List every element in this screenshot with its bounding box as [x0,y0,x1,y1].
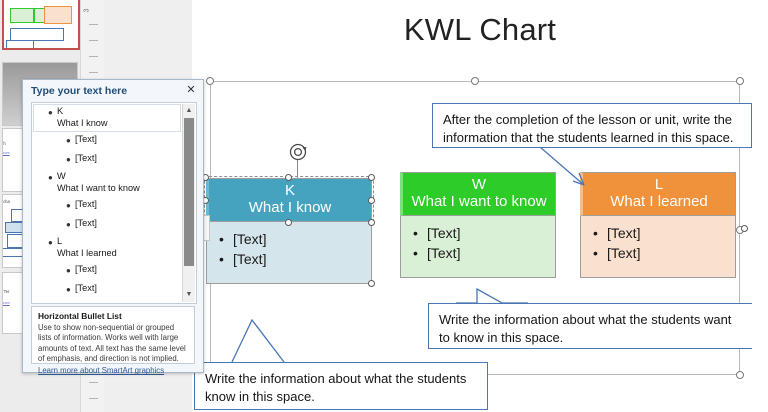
scrollbar-thumb[interactable] [184,118,194,266]
slide-canvas[interactable]: KWL Chart K What I know [Text] [Text] [192,0,768,412]
text-pane-entry-caption[interactable]: What I learned [57,248,117,258]
text-pane-entry-caption[interactable]: What I know [57,118,108,128]
layout-description-panel: Horizontal Bullet List Use to show non-s… [31,306,195,364]
bullet-icon: ● [66,155,71,164]
canvas-right-margin [752,0,768,412]
callout-want[interactable]: Write the information about what the stu… [428,303,754,349]
bullet-icon: ● [48,238,53,247]
text-pane-scrollbar[interactable]: ▲ ▼ [182,104,195,302]
scroll-down-icon[interactable]: ▼ [184,289,194,301]
thumbnail-label: WL Ch [2,141,6,146]
callout-leader-lines [192,0,768,412]
text-pane-entry-letter[interactable]: W [57,171,66,181]
text-pane-entry-letter[interactable]: K [57,106,63,116]
text-pane-entry-caption[interactable]: What I want to know [57,183,140,193]
smartart-help-link[interactable]: Learn more about SmartArt graphics [38,366,188,375]
callout-learned[interactable]: After the completion of the lesson or un… [432,103,752,148]
thumbnail-link[interactable]: pptx.com [2,151,10,155]
bullet-icon: ● [66,266,71,275]
bullet-icon: ● [66,220,71,229]
close-icon[interactable]: ✕ [184,83,198,97]
text-pane-title: Type your text here [31,85,127,97]
layout-description: Use to show non-sequential or grouped li… [38,323,188,364]
thumbnail-label: KWL cha [2,199,10,204]
text-pane-list[interactable]: ● K What I know ● [Text] ● [Text] ● W Wh… [31,102,197,304]
bullet-icon: ● [66,201,71,210]
text-pane-entry[interactable]: [Text] [75,283,97,293]
bullet-icon: ● [66,136,71,145]
text-pane-entry[interactable]: [Text] [75,199,97,209]
text-pane-entry[interactable]: [Text] [75,153,97,163]
text-pane-entry[interactable]: [Text] [75,134,97,144]
smartart-text-pane[interactable]: Type your text here ✕ ● K What I know ● … [22,79,204,373]
text-pane-entry[interactable]: [Text] [75,218,97,228]
scroll-up-icon[interactable]: ▲ [184,105,194,117]
thumbnail-label: More Ter [2,289,9,294]
bullet-icon: ● [66,285,71,294]
thumbnail-link[interactable]: pptx.com [2,301,10,305]
text-pane-entry-letter[interactable]: L [57,236,62,246]
bullet-icon: ● [48,173,53,182]
text-pane-entry[interactable]: [Text] [75,264,97,274]
bullet-icon: ● [48,108,53,117]
layout-name: Horizontal Bullet List [38,311,188,321]
ruler-label: 3 [83,9,90,13]
slide-thumbnail[interactable] [2,0,80,50]
callout-know[interactable]: Write the information about what the stu… [194,362,488,410]
